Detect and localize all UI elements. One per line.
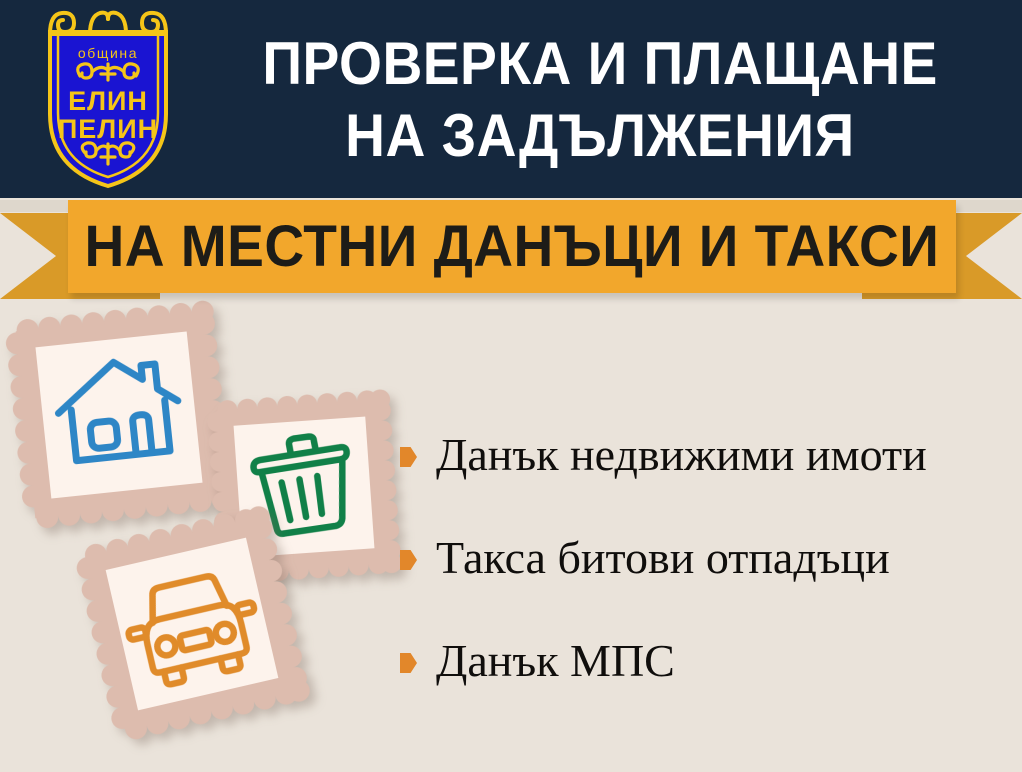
list-item: Данък недвижими имоти <box>400 420 1010 490</box>
title-line-1: ПРОВЕРКА И ПЛАЩАНЕ <box>262 28 937 100</box>
list-item: Такса битови отпадъци <box>400 523 1010 593</box>
poster-title: ПРОВЕРКА И ПЛАЩАНЕ НА ЗАДЪЛЖЕНИЯ <box>190 14 1010 186</box>
ribbon-banner: НА МЕСТНИ ДАНЪЦИ И ТАКСИ <box>68 200 956 293</box>
poster-header: община ЕЛИН ПЕЛИН <box>0 0 1022 198</box>
list-item-label: Такса битови отпадъци <box>436 532 890 584</box>
municipality-logo: община ЕЛИН ПЕЛИН <box>28 4 188 194</box>
poster-canvas: община ЕЛИН ПЕЛИН <box>0 0 1022 772</box>
ribbon-label: НА МЕСТНИ ДАНЪЦИ И ТАКСИ <box>85 218 940 276</box>
arrow-bullet-icon <box>400 653 417 673</box>
arrow-bullet-icon <box>400 550 417 570</box>
svg-text:ЕЛИН: ЕЛИН <box>68 86 148 116</box>
title-line-2: НА ЗАДЪЛЖЕНИЯ <box>345 100 855 172</box>
stamp-card-house <box>4 300 235 531</box>
subtitle-ribbon: НА МЕСТНИ ДАНЪЦИ И ТАКСИ <box>0 196 1022 300</box>
stamp-collage <box>0 296 420 766</box>
arrow-bullet-icon <box>400 447 417 467</box>
list-item-label: Данък недвижими имоти <box>436 429 927 481</box>
svg-text:община: община <box>78 45 138 61</box>
tax-type-list: Данък недвижими имоти Такса битови отпад… <box>400 420 1010 729</box>
list-item: Данък МПС <box>400 626 1010 696</box>
list-item-label: Данък МПС <box>436 635 675 687</box>
svg-text:ПЕЛИН: ПЕЛИН <box>58 114 158 144</box>
